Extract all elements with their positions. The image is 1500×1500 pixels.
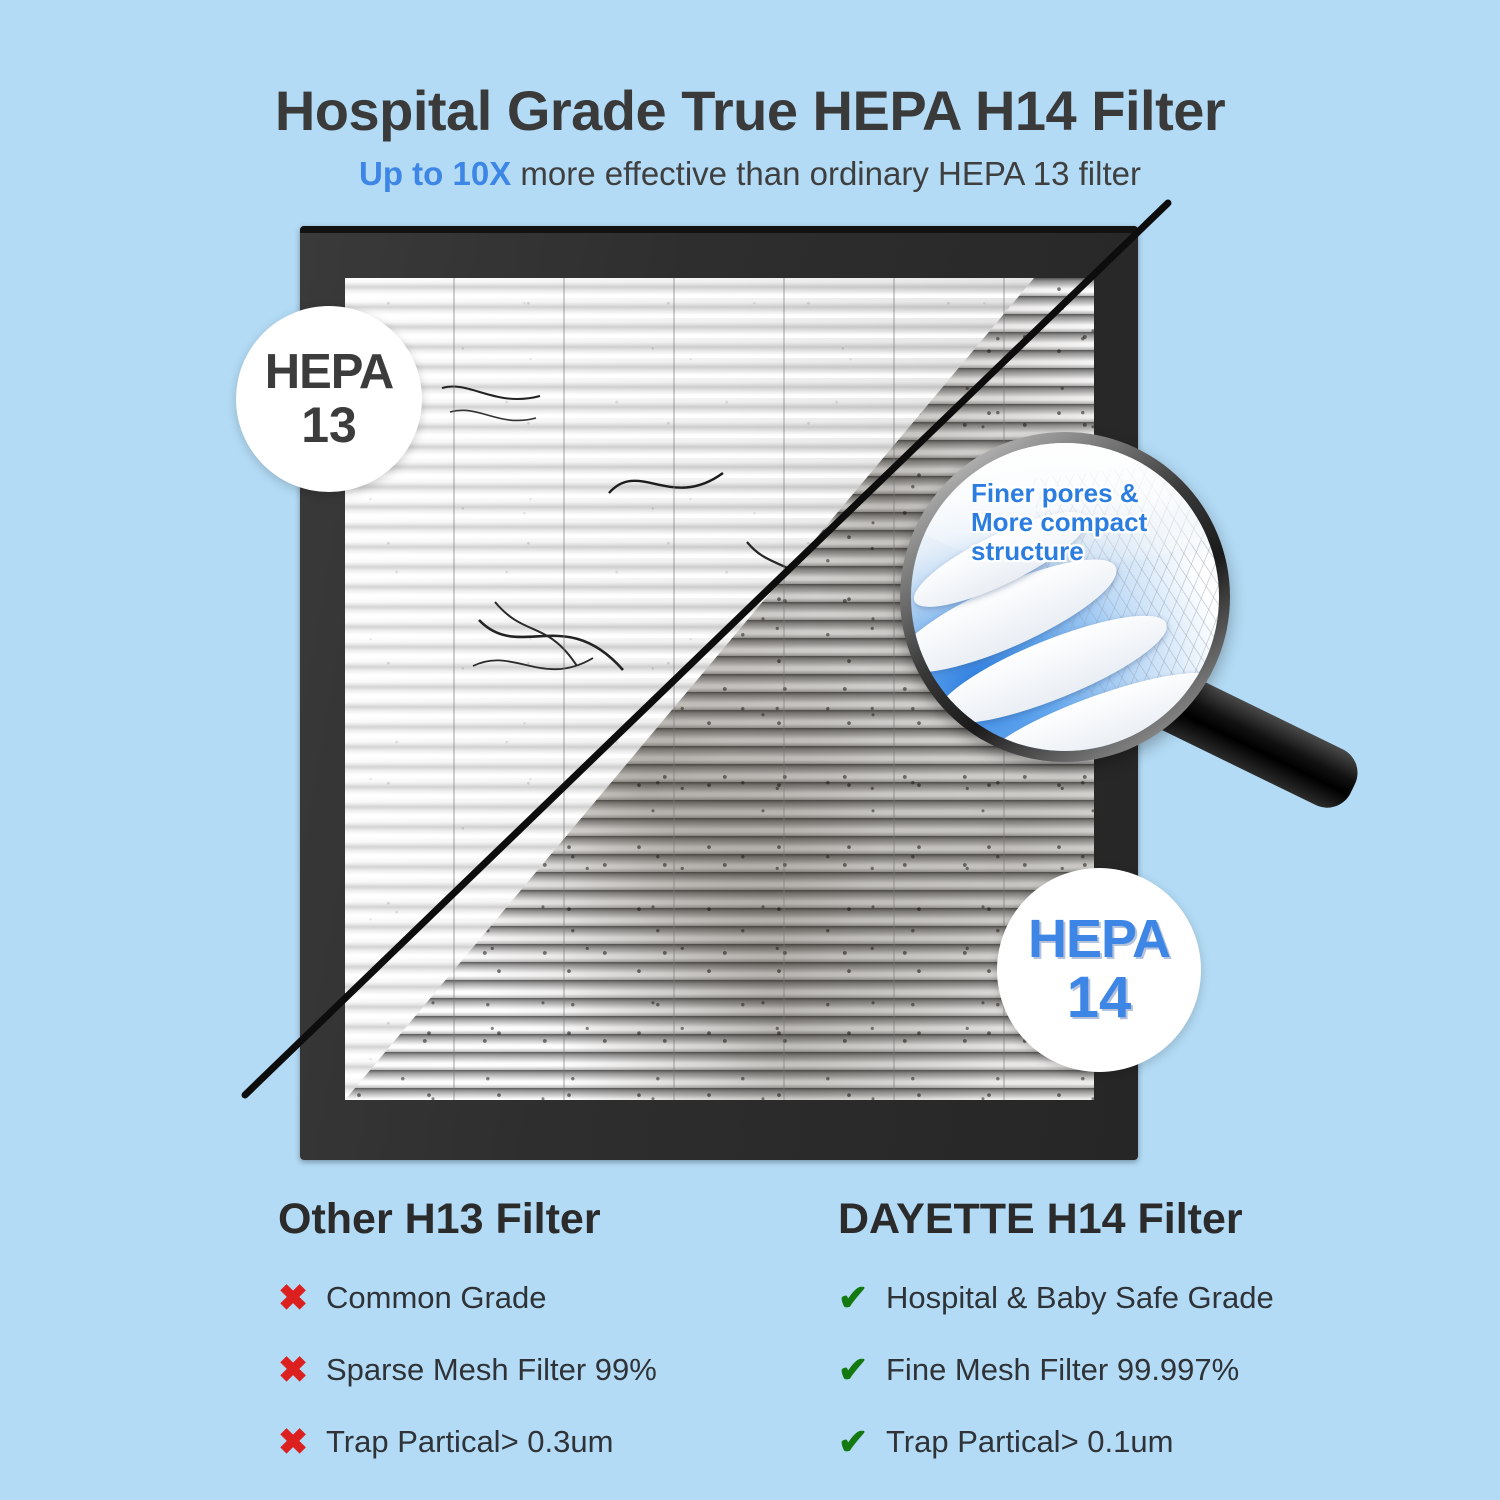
feature-row: ✖ Common Grade [278, 1262, 838, 1334]
magnifier-lens: Finer pores & More compact structure [911, 443, 1219, 751]
check-icon: ✔ [838, 1352, 886, 1388]
feature-row: ✖ Sparse Mesh Filter 99% [278, 1334, 838, 1406]
magnifier-rim: Finer pores & More compact structure [900, 432, 1230, 762]
feature-label: Sparse Mesh Filter 99% [326, 1352, 657, 1388]
comparison-column-h13: Other H13 Filter ✖ Common Grade ✖ Sparse… [278, 1195, 838, 1478]
subtitle-highlight: Up to 10X [359, 155, 511, 192]
magnifier-caption-line-2: More compact [971, 508, 1219, 537]
feature-label: Trap Partical> 0.1um [886, 1424, 1173, 1460]
feature-label: Hospital & Baby Safe Grade [886, 1280, 1274, 1316]
feature-label: Fine Mesh Filter 99.997% [886, 1352, 1239, 1388]
feature-row: ✖ Trap Partical> 0.3um [278, 1406, 838, 1478]
cross-icon: ✖ [278, 1352, 326, 1388]
badge-hepa-13: HEPA 13 [236, 306, 422, 492]
cross-icon: ✖ [278, 1424, 326, 1460]
check-icon: ✔ [838, 1424, 886, 1460]
comparison-section: Other H13 Filter ✖ Common Grade ✖ Sparse… [0, 1195, 1500, 1500]
cross-icon: ✖ [278, 1280, 326, 1316]
feature-row: ✔ Hospital & Baby Safe Grade [838, 1262, 1458, 1334]
magnifier-caption-line-1: Finer pores & [971, 479, 1219, 508]
feature-row: ✔ Fine Mesh Filter 99.997% [838, 1334, 1458, 1406]
page-subtitle: Up to 10X more effective than ordinary H… [0, 155, 1500, 193]
magnifier-caption-line-3: structure [971, 537, 1219, 566]
feature-label: Trap Partical> 0.3um [326, 1424, 613, 1460]
badge-hepa-13-label: HEPA [265, 348, 394, 396]
badge-hepa-13-number: 13 [301, 401, 357, 450]
column-title-h13: Other H13 Filter [278, 1195, 838, 1244]
magnifier-glass: Finer pores & More compact structure [900, 432, 1400, 852]
feature-label: Common Grade [326, 1280, 547, 1316]
check-icon: ✔ [838, 1280, 886, 1316]
badge-hepa-14: HEPA 14 [997, 868, 1201, 1072]
header: Hospital Grade True HEPA H14 Filter Up t… [0, 0, 1500, 210]
column-title-h14: DAYETTE H14 Filter [838, 1195, 1458, 1244]
page-title: Hospital Grade True HEPA H14 Filter [0, 78, 1500, 143]
subtitle-rest: more effective than ordinary HEPA 13 fil… [511, 155, 1141, 192]
badge-hepa-14-label: HEPA [1028, 913, 1170, 966]
comparison-column-h14: DAYETTE H14 Filter ✔ Hospital & Baby Saf… [838, 1195, 1458, 1478]
magnifier-caption: Finer pores & More compact structure [971, 479, 1219, 566]
feature-row: ✔ Trap Partical> 0.1um [838, 1406, 1458, 1478]
badge-hepa-14-number: 14 [1067, 970, 1132, 1027]
